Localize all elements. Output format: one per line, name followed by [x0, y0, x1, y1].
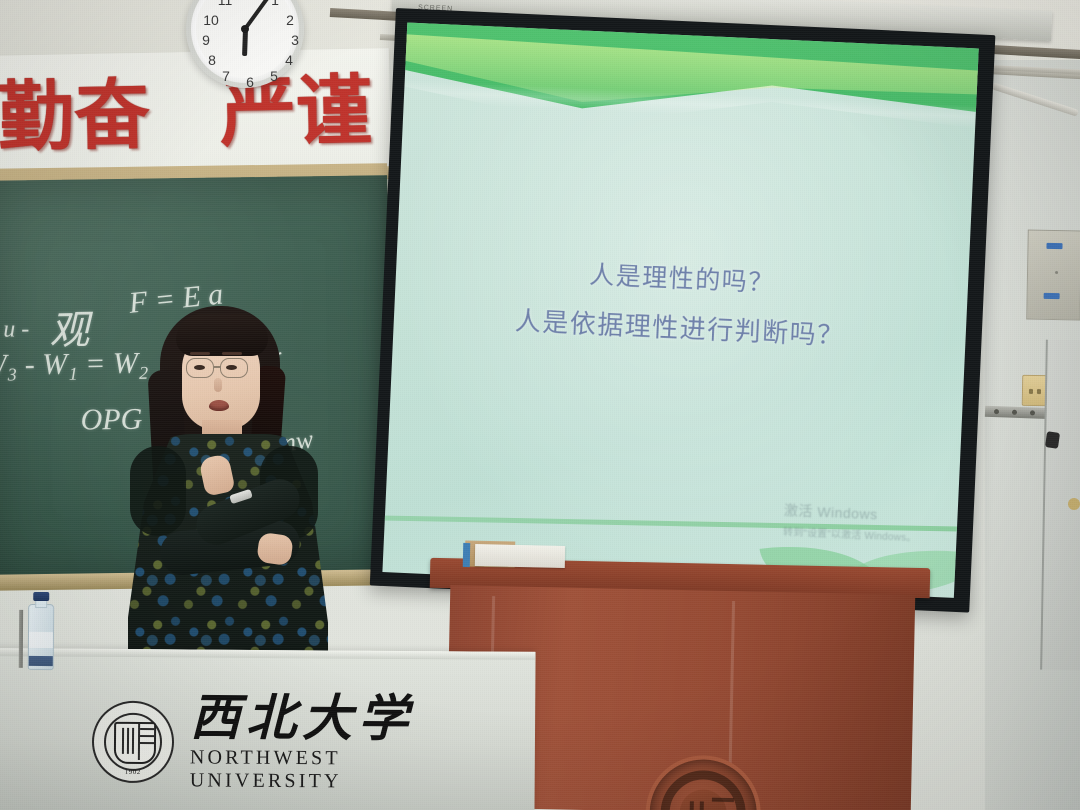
bottle-band [29, 656, 53, 666]
lecture-hall-photo: 勤奋 严谨 12 1 2 3 4 5 6 7 8 9 10 11 观 F = E… [0, 0, 1080, 810]
bottle-label [29, 632, 53, 648]
bottle-cap [33, 592, 49, 601]
presenter [108, 296, 338, 696]
seal-shield [114, 721, 156, 763]
lectern-seal-emblem [644, 754, 761, 810]
shield-divider [138, 723, 140, 759]
clock-numeral-2: 2 [282, 12, 298, 28]
outlet-slot-left [1029, 389, 1033, 394]
shield-mark [122, 727, 124, 753]
eyeglasses-lens-left [186, 358, 214, 378]
slide-text-block: 人是理性的吗？ 人是依据理性进行判断吗？ [393, 242, 969, 367]
hand-resting [256, 532, 294, 566]
chalk-note-1: 观 [49, 297, 90, 356]
university-logo-text: 西北大学 NORTHWEST UNIVERSITY [190, 692, 483, 795]
rail-hole [1030, 410, 1035, 415]
university-logo: NORTHWEST UNIVERSITY · XI'AN CHINA 1902 … [92, 689, 483, 797]
shoulder-left [130, 446, 186, 536]
water-bottle[interactable] [28, 592, 55, 670]
clock-numeral-10: 10 [203, 12, 219, 28]
eyeglasses-bridge [214, 366, 221, 368]
mouth [209, 400, 229, 411]
banner-character-1: 勤奋 [0, 77, 151, 156]
eyebrow-right [222, 352, 242, 355]
presentation-slide: 人是理性的吗？ 人是依据理性进行判断吗？ 激活 Windows 转到“设置”以激… [382, 23, 978, 598]
outlet-slot-right [1037, 389, 1041, 394]
clock-numeral-5: 5 [266, 68, 282, 84]
clock-numeral-8: 8 [204, 52, 220, 68]
rail-hole [994, 409, 999, 414]
clock-center-cap [241, 25, 249, 33]
projector-screen: 人是理性的吗？ 人是依据理性进行判断吗？ 激活 Windows 转到“设置”以激… [370, 8, 996, 613]
clock-numeral-4: 4 [281, 52, 297, 68]
panel-sticker-bottom [1044, 293, 1060, 299]
university-name-chinese: 西北大学 [190, 692, 482, 747]
seal-mark [689, 801, 694, 810]
clock-numeral-9: 9 [198, 32, 214, 48]
university-seal-icon: NORTHWEST UNIVERSITY · XI'AN CHINA 1902 [92, 700, 175, 783]
hair-fringe [176, 314, 268, 356]
electrical-panel-box [1026, 230, 1080, 321]
slide-top-band-line [382, 23, 978, 193]
seal-year: 1902 [94, 767, 172, 776]
shield-mark [140, 741, 154, 743]
seal-mark [712, 798, 734, 802]
shield-mark [140, 734, 154, 736]
whiteboard-clip[interactable] [1045, 431, 1060, 449]
clock-numeral-6: 6 [242, 74, 258, 90]
wall-banner: 勤奋 严谨 [0, 48, 391, 181]
rail-hole [1012, 410, 1017, 415]
clock-face: 12 1 2 3 4 5 6 7 8 9 10 11 [196, 0, 294, 78]
seal-mark [699, 801, 704, 810]
nose [214, 378, 222, 392]
shield-mark [140, 727, 154, 729]
windows-activation-watermark: 激活 Windows 转到“设置”以激活 Windows。 [783, 500, 918, 544]
clock-numeral-1: 1 [267, 0, 283, 8]
clock-numeral-11: 11 [217, 0, 233, 8]
whiteboard-knob[interactable] [1068, 498, 1080, 510]
shield-mark [127, 727, 129, 753]
lectern-blue-tab [463, 543, 471, 567]
shield-mark [132, 727, 134, 753]
panel-screw [1055, 271, 1058, 274]
eyebrow-left [190, 352, 210, 355]
eyeglasses-lens-right [220, 358, 248, 378]
university-name-english: NORTHWEST UNIVERSITY [190, 746, 482, 794]
chalk-note-6: u - [3, 316, 29, 343]
panel-sticker-top [1046, 243, 1062, 249]
lectern-papers [475, 544, 565, 568]
clock-numeral-3: 3 [287, 32, 303, 48]
wall-outlet[interactable] [1022, 375, 1048, 406]
clock-numeral-7: 7 [218, 68, 234, 84]
desk-rod [19, 610, 23, 668]
